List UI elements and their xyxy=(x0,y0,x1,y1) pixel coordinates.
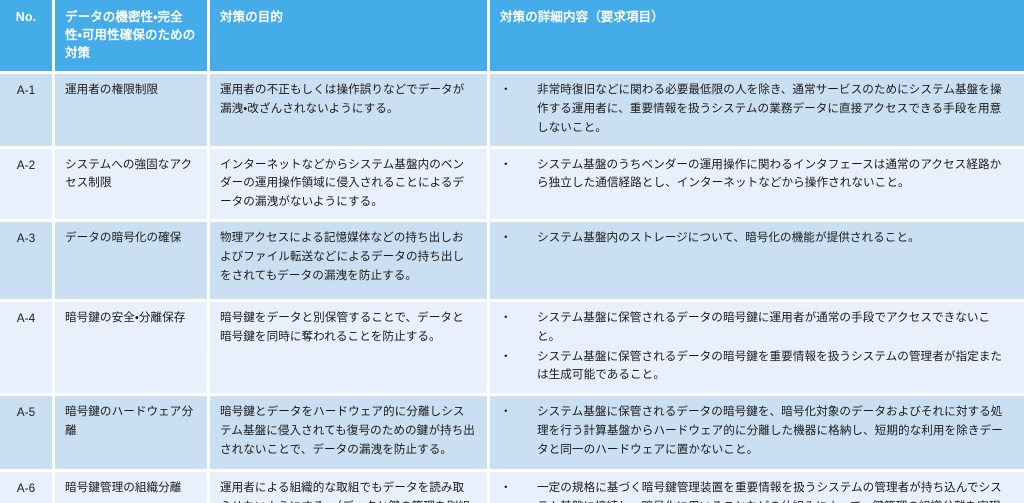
row-detail: ・ システム基盤内のストレージについて、暗号化の機能が提供されること。 xyxy=(490,222,1024,302)
column-header-no: No. xyxy=(0,0,55,74)
list-item: ・ システム基盤に保管されるデータの暗号鍵を、暗号化対象のデータおよびそれに対す… xyxy=(498,403,1010,459)
list-item-text: 一定の規格に基づく暗号鍵管理装置を重要情報を扱うシステムの管理者が持ち込んでシス… xyxy=(537,479,1010,503)
row-purpose: 物理アクセスによる記憶媒体などの持ち出しおよびファイル転送などによるデータの持ち… xyxy=(210,222,490,302)
table-header: No. データの機密性・完全性・可用性確保のための対策 対策の目的 対策の詳細内… xyxy=(0,0,1024,74)
list-item: ・ システム基盤に保管されるデータの暗号鍵を重要情報を扱うシステムの管理者が指定… xyxy=(498,348,1010,386)
bullet-dot-icon: ・ xyxy=(500,479,508,498)
row-detail: ・ システム基盤に保管されるデータの暗号鍵を、暗号化対象のデータおよびそれに対す… xyxy=(490,396,1024,472)
row-measure: データの暗号化の確保 xyxy=(55,222,210,302)
column-header-detail: 対策の詳細内容（要求項目） xyxy=(490,0,1024,74)
row-purpose: 運用者による組織的な取組でもデータを読み取らせないようにする。（データと鍵の管理… xyxy=(210,472,490,503)
row-detail: ・ システム基盤のうちベンダーの運用操作に関わるインタフェースは通常のアクセス経… xyxy=(490,149,1024,222)
page-root: No. データの機密性・完全性・可用性確保のための対策 対策の目的 対策の詳細内… xyxy=(0,0,1024,503)
table-header-row: No. データの機密性・完全性・可用性確保のための対策 対策の目的 対策の詳細内… xyxy=(0,0,1024,74)
detail-bullet-list: ・ システム基盤のうちベンダーの運用操作に関わるインタフェースは通常のアクセス経… xyxy=(498,156,1010,194)
table-body: A-1 運用者の権限制限 運用者の不正もしくは操作誤りなどでデータが漏洩・改ざん… xyxy=(0,74,1024,503)
row-detail: ・ 一定の規格に基づく暗号鍵管理装置を重要情報を扱うシステムの管理者が持ち込んで… xyxy=(490,472,1024,503)
row-purpose: 暗号鍵をデータと別保管することで、データと暗号鍵を同時に奪われることを防止する。 xyxy=(210,302,490,396)
table-row: A-5 暗号鍵のハードウェア分離 暗号鍵とデータをハードウェア的に分離しシステム… xyxy=(0,396,1024,472)
row-measure: 運用者の権限制限 xyxy=(55,74,210,148)
detail-bullet-list: ・ システム基盤内のストレージについて、暗号化の機能が提供されること。 xyxy=(498,229,1010,248)
table-row: A-6 暗号鍵管理の組織分離 運用者による組織的な取組でもデータを読み取らせない… xyxy=(0,472,1024,503)
table-row: A-1 運用者の権限制限 運用者の不正もしくは操作誤りなどでデータが漏洩・改ざん… xyxy=(0,74,1024,148)
list-item: ・ 非常時復旧などに関わる必要最低限の人を除き、通常サービスのためにシステム基盤… xyxy=(498,81,1010,137)
table-row: A-3 データの暗号化の確保 物理アクセスによる記憶媒体などの持ち出しおよびファ… xyxy=(0,222,1024,302)
list-item: ・ システム基盤に保管されるデータの暗号鍵に運用者が通常の手段でアクセスできない… xyxy=(498,309,1010,347)
bullet-dot-icon: ・ xyxy=(500,229,508,248)
row-detail: ・ 非常時復旧などに関わる必要最低限の人を除き、通常サービスのためにシステム基盤… xyxy=(490,74,1024,148)
column-header-measure: データの機密性・完全性・可用性確保のための対策 xyxy=(55,0,210,74)
row-id: A-3 xyxy=(0,222,55,302)
row-measure: システムへの強固なアクセス制限 xyxy=(55,149,210,222)
detail-bullet-list: ・ システム基盤に保管されるデータの暗号鍵に運用者が通常の手段でアクセスできない… xyxy=(498,309,1010,385)
list-item-text: システム基盤に保管されるデータの暗号鍵を重要情報を扱うシステムの管理者が指定また… xyxy=(537,348,1010,386)
list-item: ・ システム基盤内のストレージについて、暗号化の機能が提供されること。 xyxy=(498,229,1010,248)
bullet-dot-icon: ・ xyxy=(500,348,508,367)
row-id: A-1 xyxy=(0,74,55,148)
bullet-dot-icon: ・ xyxy=(500,309,508,328)
row-id: A-4 xyxy=(0,302,55,396)
column-header-purpose: 対策の目的 xyxy=(210,0,490,74)
bullet-dot-icon: ・ xyxy=(500,156,508,175)
list-item-text: システム基盤に保管されるデータの暗号鍵に運用者が通常の手段でアクセスできないこと… xyxy=(537,309,1010,347)
list-item-text: システム基盤内のストレージについて、暗号化の機能が提供されること。 xyxy=(537,229,1010,248)
list-item: ・ 一定の規格に基づく暗号鍵管理装置を重要情報を扱うシステムの管理者が持ち込んで… xyxy=(498,479,1010,503)
table-row: A-2 システムへの強固なアクセス制限 インターネットなどからシステム基盤内のベ… xyxy=(0,149,1024,222)
row-purpose: インターネットなどからシステム基盤内のベンダーの運用操作領域に侵入されることによ… xyxy=(210,149,490,222)
row-purpose: 運用者の不正もしくは操作誤りなどでデータが漏洩・改ざんされないようにする。 xyxy=(210,74,490,148)
bullet-dot-icon: ・ xyxy=(500,403,508,422)
list-item-text: 非常時復旧などに関わる必要最低限の人を除き、通常サービスのためにシステム基盤を操… xyxy=(537,81,1010,137)
list-item: ・ システム基盤のうちベンダーの運用操作に関わるインタフェースは通常のアクセス経… xyxy=(498,156,1010,194)
row-id: A-6 xyxy=(0,472,55,503)
list-item-text: システム基盤のうちベンダーの運用操作に関わるインタフェースは通常のアクセス経路か… xyxy=(537,156,1010,194)
row-measure: 暗号鍵の安全・分離保存 xyxy=(55,302,210,396)
security-measures-table: No. データの機密性・完全性・可用性確保のための対策 対策の目的 対策の詳細内… xyxy=(0,0,1024,503)
row-id: A-2 xyxy=(0,149,55,222)
detail-bullet-list: ・ 非常時復旧などに関わる必要最低限の人を除き、通常サービスのためにシステム基盤… xyxy=(498,81,1010,137)
table-row: A-4 暗号鍵の安全・分離保存 暗号鍵をデータと別保管することで、データと暗号鍵… xyxy=(0,302,1024,396)
list-item-text: システム基盤に保管されるデータの暗号鍵を、暗号化対象のデータおよびそれに対する処… xyxy=(537,403,1010,459)
row-measure: 暗号鍵のハードウェア分離 xyxy=(55,396,210,472)
detail-bullet-list: ・ 一定の規格に基づく暗号鍵管理装置を重要情報を扱うシステムの管理者が持ち込んで… xyxy=(498,479,1010,503)
row-purpose: 暗号鍵とデータをハードウェア的に分離しシステム基盤に侵入されても復号のための鍵が… xyxy=(210,396,490,472)
row-detail: ・ システム基盤に保管されるデータの暗号鍵に運用者が通常の手段でアクセスできない… xyxy=(490,302,1024,396)
row-id: A-5 xyxy=(0,396,55,472)
bullet-dot-icon: ・ xyxy=(500,81,508,100)
row-measure: 暗号鍵管理の組織分離 xyxy=(55,472,210,503)
detail-bullet-list: ・ システム基盤に保管されるデータの暗号鍵を、暗号化対象のデータおよびそれに対す… xyxy=(498,403,1010,459)
